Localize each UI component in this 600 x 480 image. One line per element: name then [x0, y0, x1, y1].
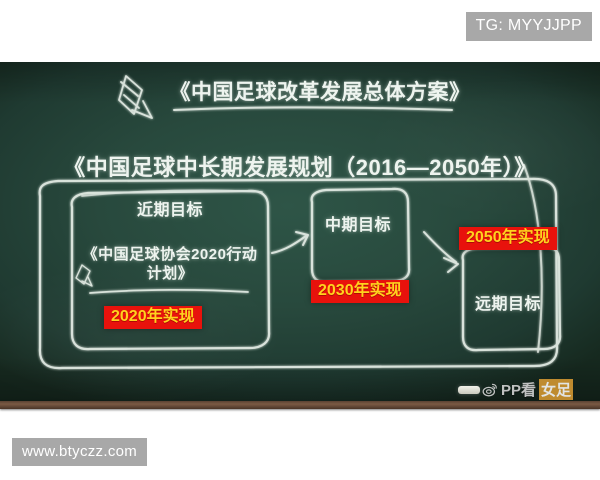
page-title: 《中国足球改革发展总体方案》	[0, 76, 600, 106]
goal-label-mid-term: 中期目标	[318, 216, 398, 237]
deadline-badge-2050: 2050年实现	[459, 227, 557, 250]
screenshot-root: 《中国足球改革发展总体方案》 《中国足球中长期发展规划（2016—2050年）》…	[0, 0, 600, 480]
goal-plan-near-term: 《中国足球协会2020行动计划》	[80, 246, 260, 284]
channel-watermark: PP看 女足	[482, 379, 573, 400]
chalk-stub	[458, 386, 480, 394]
chalkboard-ledge	[0, 401, 600, 409]
watermark-bottom-left: www.btyczz.com	[12, 438, 147, 466]
deadline-badge-2030: 2030年实现	[311, 280, 409, 303]
deadline-badge-2020: 2020年实现	[104, 306, 202, 329]
sub-title: 《中国足球中长期发展规划（2016—2050年）》	[0, 150, 600, 182]
watermark-top-right: TG: MYYJJPP	[466, 12, 592, 41]
channel-name: PP看	[501, 379, 536, 400]
channel-highlight: 女足	[539, 379, 573, 400]
goal-label-near-term: 近期目标	[95, 202, 245, 220]
goal-label-long-term: 远期目标	[468, 295, 548, 316]
weibo-eye-icon	[482, 382, 498, 398]
